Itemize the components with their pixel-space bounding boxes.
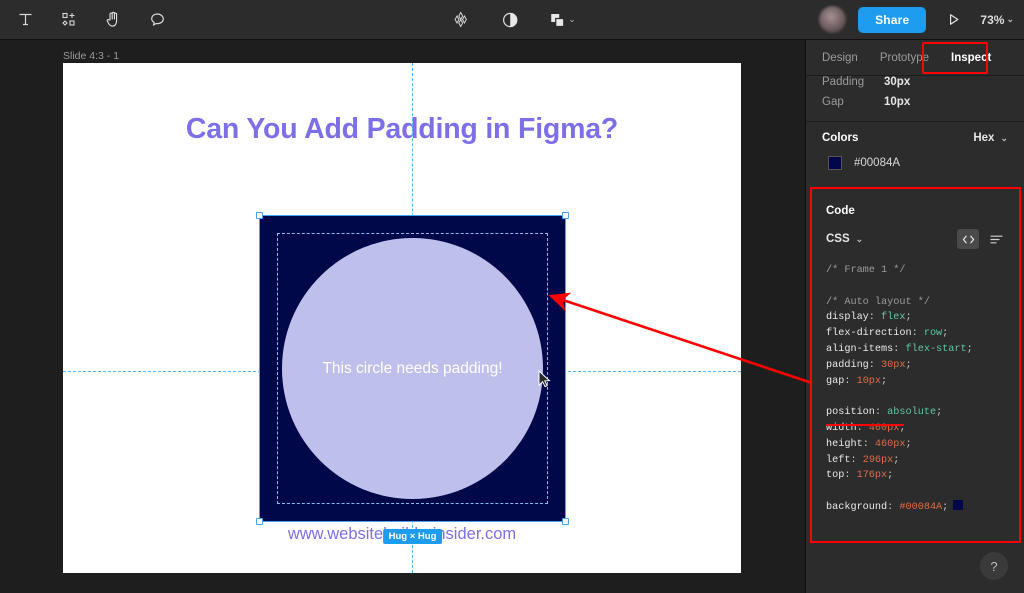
color-swatch[interactable] xyxy=(828,156,842,170)
code-property: gap xyxy=(826,376,844,387)
resize-handle-top-right[interactable] xyxy=(562,212,569,219)
code-property: top xyxy=(826,470,844,481)
zoom-level-value: 73% xyxy=(980,13,1004,27)
list-view-icon[interactable] xyxy=(985,229,1007,249)
padding-line-underline-annotation xyxy=(826,424,904,426)
code-language-selector[interactable]: CSS ⌄ xyxy=(826,233,863,245)
code-value: 296px xyxy=(863,455,894,466)
tab-inspect[interactable]: Inspect xyxy=(951,52,991,64)
code-semicolon: ; xyxy=(893,455,899,466)
code-colon: : xyxy=(844,376,856,387)
resize-handle-top-left[interactable] xyxy=(256,212,263,219)
code-comment: /* Auto layout */ xyxy=(826,297,930,308)
code-value: flex-start xyxy=(905,344,966,355)
tab-prototype[interactable]: Prototype xyxy=(880,52,929,64)
panel-tab-bar: Design Prototype Inspect xyxy=(806,40,1024,76)
code-line: /* Auto layout */ xyxy=(826,295,1005,311)
code-line: left: 296px; xyxy=(826,453,1005,469)
size-badge[interactable]: Hug × Hug xyxy=(383,529,443,544)
figma-app-window: ⌄ Share 73% ⌄ Slide 4:3 - 1 Can You Add … xyxy=(0,0,1024,593)
code-language-chevron-down-icon[interactable]: ⌄ xyxy=(856,234,864,245)
code-view-icon[interactable] xyxy=(957,229,979,249)
shapes-chevron-down-icon[interactable]: ⌄ xyxy=(568,14,576,25)
code-value: row xyxy=(924,328,942,339)
code-blank-line xyxy=(826,389,1005,405)
code-semicolon: ; xyxy=(936,407,942,418)
code-semicolon: ; xyxy=(967,344,973,355)
code-line: display: flex; xyxy=(826,310,1005,326)
code-comment: /* Frame 1 */ xyxy=(826,265,905,276)
shapes-icon[interactable]: ⌄ xyxy=(545,5,579,35)
selected-frame[interactable]: This circle needs padding! Hug × Hug xyxy=(260,216,565,521)
circle-shape[interactable]: This circle needs padding! xyxy=(282,238,543,499)
code-value: 10px xyxy=(857,376,881,387)
property-value-padding: 30px xyxy=(884,76,910,88)
avatar[interactable] xyxy=(819,6,846,33)
code-property: padding xyxy=(826,360,869,371)
color-hex-value[interactable]: #00084A xyxy=(854,157,900,169)
code-section-title: Code xyxy=(826,205,855,217)
colors-section-header: Colors Hex ⌄ xyxy=(806,128,1024,154)
help-button[interactable]: ? xyxy=(980,552,1008,580)
code-colon: : xyxy=(869,312,881,323)
code-semicolon: ; xyxy=(887,470,893,481)
color-format-chevron-down-icon[interactable]: ⌄ xyxy=(1000,133,1008,144)
code-property: background xyxy=(826,502,887,513)
code-blank-line xyxy=(826,484,1005,500)
code-line: top: 176px; xyxy=(826,468,1005,484)
code-section-highlight-annotation: Code CSS ⌄ xyxy=(810,187,1021,543)
color-format-value: Hex xyxy=(973,132,994,144)
zoom-level-control[interactable]: 73% ⌄ xyxy=(980,13,1014,27)
code-value: absolute xyxy=(887,407,936,418)
code-snippet[interactable]: /* Frame 1 *//* Auto layout */display: f… xyxy=(812,249,1019,516)
components-tool-button[interactable] xyxy=(54,5,84,35)
hand-tool-button[interactable] xyxy=(98,5,128,35)
code-blank-line xyxy=(826,279,1005,295)
code-line: position: absolute; xyxy=(826,405,1005,421)
comment-tool-button[interactable] xyxy=(142,5,172,35)
code-colon: : xyxy=(863,439,875,450)
code-property: position xyxy=(826,407,875,418)
code-language-row: CSS ⌄ xyxy=(812,219,1019,249)
code-language-value: CSS xyxy=(826,233,850,245)
code-property: display xyxy=(826,312,869,323)
code-value: 176px xyxy=(857,470,888,481)
code-property: flex-direction xyxy=(826,328,912,339)
code-value: 30px xyxy=(881,360,905,371)
resize-handle-bottom-right[interactable] xyxy=(562,518,569,525)
code-semicolon: ; xyxy=(906,360,912,371)
zoom-chevron-down-icon[interactable]: ⌄ xyxy=(1006,14,1014,25)
code-semicolon: ; xyxy=(881,376,887,387)
code-line: gap: 10px; xyxy=(826,374,1005,390)
code-line: background: #00084A; xyxy=(826,500,1005,516)
top-toolbar: ⌄ Share 73% ⌄ xyxy=(0,0,1024,40)
code-line: height: 460px; xyxy=(826,437,1005,453)
code-semicolon: ; xyxy=(942,502,948,513)
colors-section-title: Colors xyxy=(822,132,858,144)
code-value: #00084A xyxy=(899,502,942,513)
code-section-header: Code xyxy=(812,189,1019,219)
code-semicolon: ; xyxy=(906,312,912,323)
color-swatch-row[interactable]: #00084A xyxy=(806,154,1024,180)
share-button[interactable]: Share xyxy=(858,7,926,33)
code-inline-color-swatch[interactable] xyxy=(953,500,963,510)
code-semicolon: ; xyxy=(942,328,948,339)
code-line: /* Frame 1 */ xyxy=(826,263,1005,279)
contrast-icon[interactable] xyxy=(495,5,525,35)
text-tool-button[interactable] xyxy=(10,5,40,35)
resize-handle-bottom-left[interactable] xyxy=(256,518,263,525)
code-property: left xyxy=(826,455,850,466)
code-actions-group xyxy=(957,229,1007,249)
code-line: align-items: flex-start; xyxy=(826,342,1005,358)
design-canvas[interactable]: Slide 4:3 - 1 Can You Add Padding in Fig… xyxy=(0,40,805,593)
frame-name-label[interactable]: Slide 4:3 - 1 xyxy=(63,50,119,62)
code-line: padding: 30px; xyxy=(826,358,1005,374)
code-property: align-items xyxy=(826,344,893,355)
property-row-gap: Gap 10px xyxy=(806,89,1024,115)
code-value: 460px xyxy=(875,439,906,450)
present-play-icon[interactable] xyxy=(938,5,968,35)
property-label-padding: Padding xyxy=(822,76,884,88)
code-colon: : xyxy=(869,360,881,371)
code-colon: : xyxy=(887,502,899,513)
property-row-padding: Padding 30px xyxy=(806,75,1024,89)
code-colon: : xyxy=(875,407,887,418)
code-colon: : xyxy=(844,470,856,481)
panel-divider xyxy=(806,121,1024,122)
tab-design[interactable]: Design xyxy=(822,52,858,64)
code-colon: : xyxy=(850,455,862,466)
color-format-selector[interactable]: Hex ⌄ xyxy=(973,132,1008,144)
right-inspect-panel: Design Prototype Inspect Padding 30px Ga… xyxy=(805,40,1024,593)
circle-label-text: This circle needs padding! xyxy=(322,360,502,378)
mouse-cursor-icon xyxy=(538,370,551,393)
toolbar-left-tools xyxy=(0,5,172,35)
toolbar-right-group: Share 73% ⌄ xyxy=(819,5,1014,35)
plugins-icon[interactable] xyxy=(445,5,475,35)
code-semicolon: ; xyxy=(906,439,912,450)
toolbar-center-tools: ⌄ xyxy=(445,5,579,35)
code-colon: : xyxy=(912,328,924,339)
code-property: height xyxy=(826,439,863,450)
property-value-gap: 10px xyxy=(884,96,910,108)
property-label-gap: Gap xyxy=(822,96,884,108)
code-line: flex-direction: row; xyxy=(826,326,1005,342)
code-colon: : xyxy=(893,344,905,355)
slide-title-text[interactable]: Can You Add Padding in Figma? xyxy=(63,113,741,146)
code-value: flex xyxy=(881,312,905,323)
